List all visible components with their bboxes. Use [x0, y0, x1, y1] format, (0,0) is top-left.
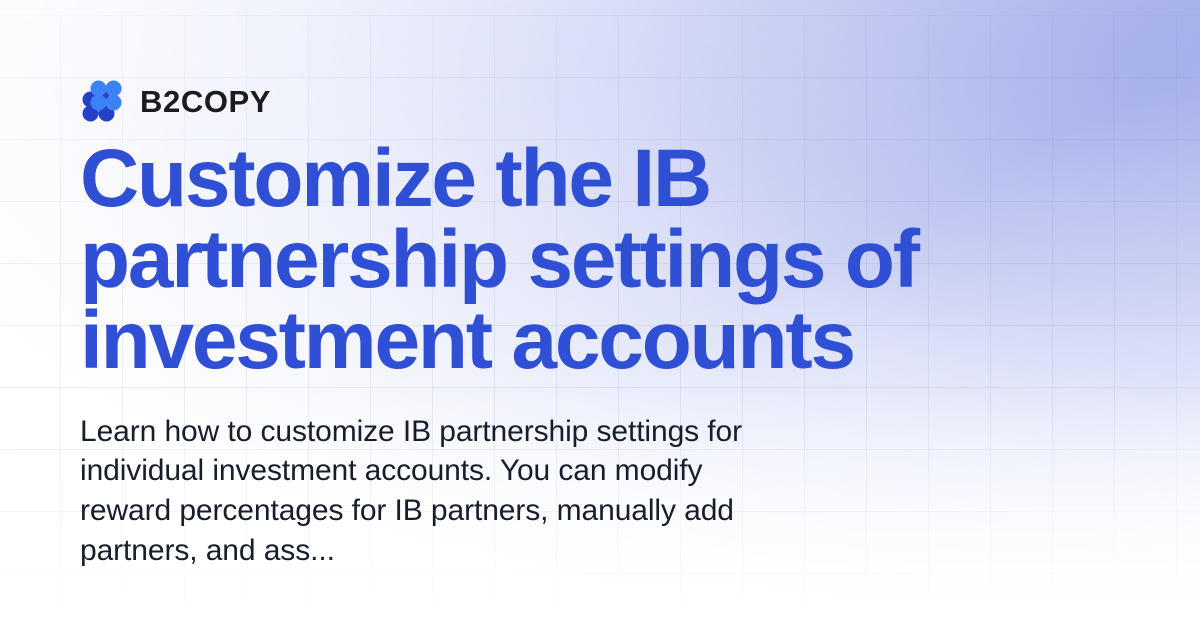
brand-wordmark: B2COPY [140, 86, 271, 117]
b2copy-dots-logo-icon [80, 80, 122, 122]
brand-lockup: B2COPY [80, 78, 1120, 124]
page-title: Customize the IB partnership settings of… [80, 138, 1110, 382]
card-content: B2COPY Customize the IB partnership sett… [0, 0, 1200, 630]
page-description: Learn how to customize IB partnership se… [80, 412, 780, 572]
og-card: B2COPY Customize the IB partnership sett… [0, 0, 1200, 630]
